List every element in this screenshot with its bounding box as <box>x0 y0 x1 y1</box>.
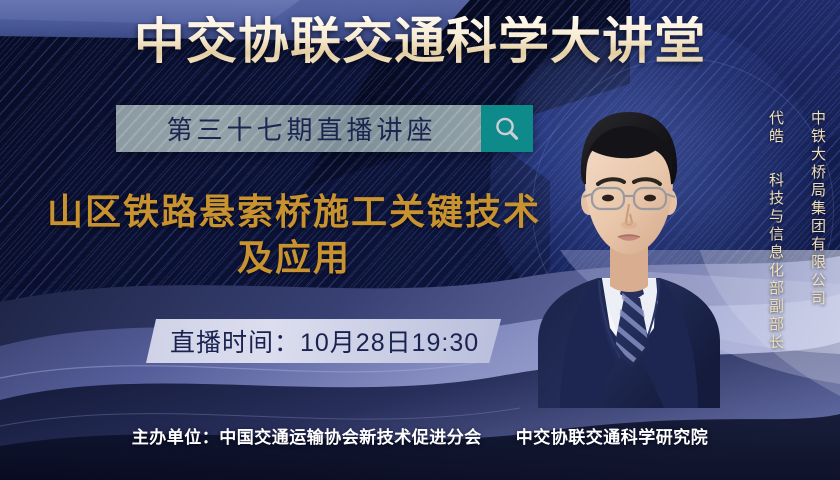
speaker-organization: 中铁大桥局集团有限公司 <box>808 110 826 308</box>
lecture-title-line-1: 山区铁路悬索桥施工关键技术 <box>34 190 554 236</box>
footer-institute: 中交协联交通科学研究院 <box>516 423 709 448</box>
lecture-title-line-2: 及应用 <box>34 236 554 282</box>
session-label: 第三十七期直播讲座 <box>160 110 436 147</box>
page-title: 中交协联交通科学大讲堂 <box>0 16 840 66</box>
broadcast-time-badge: 直播时间：10月28日19:30 <box>146 319 501 363</box>
session-bar: 第三十七期直播讲座 <box>116 105 533 152</box>
speaker-name: 代皓 <box>766 110 784 146</box>
search-button[interactable] <box>481 105 533 152</box>
broadcast-time-text: 直播时间：10月28日19:30 <box>170 323 479 359</box>
footer-organizer: 主办单位：中国交通运输协会新技术促进分会 <box>132 423 482 448</box>
session-label-container: 第三十七期直播讲座 <box>116 105 481 152</box>
live-lecture-poster: 中交协联交通科学大讲堂 第三十七期直播讲座 山区铁路悬索桥施工关键技术 及应用 … <box>0 0 840 480</box>
footer: 主办单位：中国交通运输协会新技术促进分会 中交协联交通科学研究院 <box>0 423 840 448</box>
speaker-role: 科技与信息化部副部长 <box>766 172 784 352</box>
lecture-title: 山区铁路悬索桥施工关键技术 及应用 <box>34 190 554 282</box>
search-icon <box>492 114 522 144</box>
